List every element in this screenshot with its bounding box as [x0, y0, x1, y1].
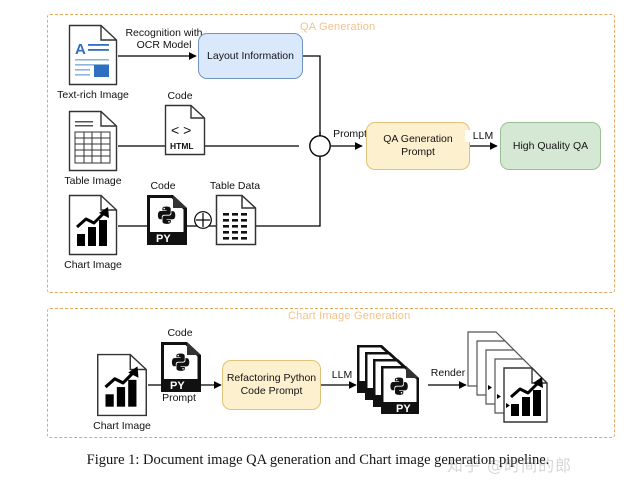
label-chart-image-bottom: Chart Image	[72, 420, 172, 432]
figure-canvas: QA Generation Chart Image Generation	[0, 0, 636, 493]
html-code-file-icon: < > HTML	[164, 104, 206, 156]
edge-label-ocr-line2: OCR Model	[122, 39, 206, 51]
box-layout-information[interactable]: Layout Information	[198, 33, 303, 79]
edge-label-prompt-bottom: Prompt	[150, 392, 208, 404]
python-code-file-stack-icon: PY	[356, 344, 432, 420]
edge-label-llm-bottom: LLM	[325, 369, 359, 381]
table-image-icon	[68, 110, 118, 172]
label-text-rich-image: Text-rich Image	[43, 89, 143, 101]
box-high-quality-qa-label: High Quality QA	[513, 140, 588, 153]
edge-label-ocr-line1: Recognition with	[122, 27, 206, 39]
box-high-quality-qa[interactable]: High Quality QA	[500, 122, 601, 170]
plus-combine-icon	[193, 210, 213, 230]
box-layout-information-label: Layout Information	[207, 50, 294, 63]
svg-text:PY: PY	[156, 233, 171, 245]
watermark-text: 知乎 @时间的郎	[447, 452, 627, 482]
label-table-data: Table Data	[200, 180, 270, 192]
label-code-py-bottom: Code	[145, 327, 215, 339]
chart-image-icon-bottom	[96, 353, 148, 417]
box-qa-generation-prompt[interactable]: QA Generation Prompt	[366, 122, 470, 170]
edge-label-prompt-top: Prompt	[329, 128, 371, 140]
svg-text:HTML: HTML	[170, 141, 194, 151]
label-chart-image-top: Chart Image	[43, 259, 143, 271]
section-title-qa-generation: QA Generation	[300, 21, 375, 33]
edge-label-render: Render	[424, 367, 472, 379]
box-refactoring-python-code-prompt[interactable]: Refactoring Python Code Prompt	[222, 360, 321, 410]
svg-text:< >: < >	[171, 122, 191, 138]
section-title-chart-image-generation: Chart Image Generation	[288, 310, 410, 322]
text-rich-image-icon: A	[68, 24, 118, 86]
svg-text:A: A	[75, 41, 86, 58]
svg-text:PY: PY	[396, 403, 411, 415]
box-refactoring-line2: Code Prompt	[241, 385, 303, 398]
edge-label-llm-top: LLM	[465, 130, 501, 142]
python-code-file-icon: PY	[146, 194, 188, 246]
box-qa-generation-prompt-line2: Prompt	[401, 146, 435, 159]
box-qa-generation-prompt-line1: QA Generation	[383, 133, 452, 146]
svg-text:PY: PY	[170, 380, 185, 392]
table-data-file-icon	[215, 194, 257, 246]
label-code-py-top: Code	[128, 180, 198, 192]
label-code-html: Code	[140, 90, 220, 102]
chart-image-icon	[68, 194, 118, 256]
box-refactoring-line1: Refactoring Python	[227, 372, 316, 385]
python-code-file-icon-bottom: PY	[160, 341, 202, 393]
chart-image-stack-icon	[466, 330, 562, 426]
